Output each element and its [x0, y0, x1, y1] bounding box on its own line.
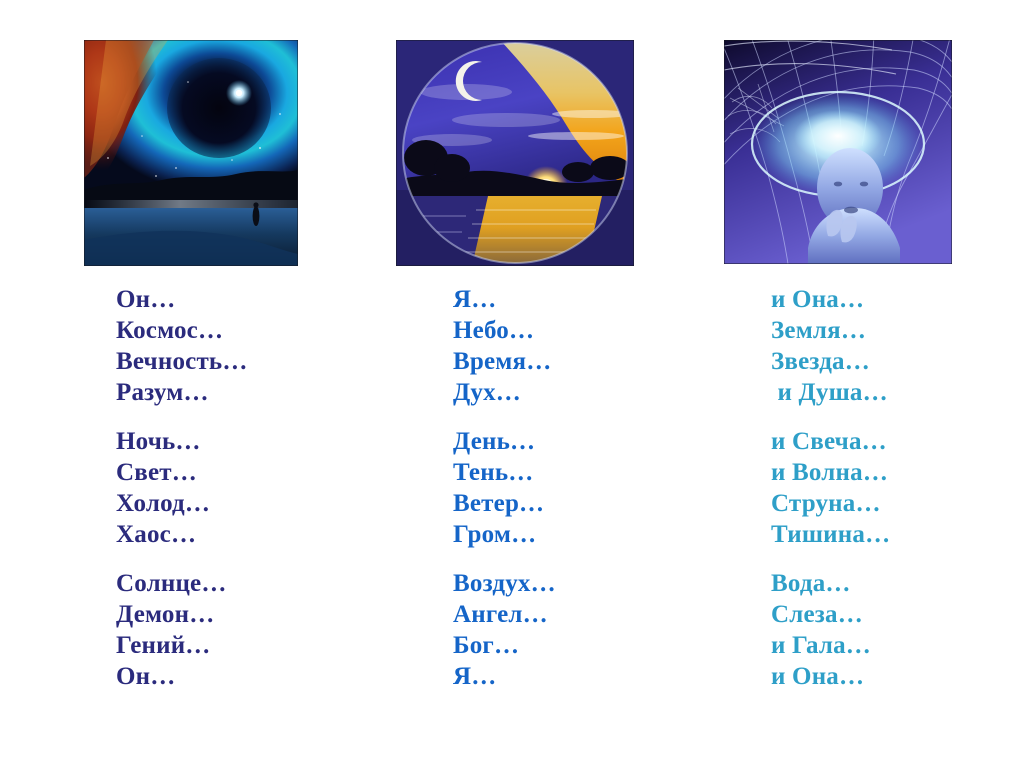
poem-line: Гений… [116, 630, 248, 661]
stanza: Он… Космос… Вечность… Разум… [116, 284, 248, 408]
poem-line: Хаос… [116, 519, 248, 550]
stanza: Я… Небо… Время… Дух… [453, 284, 556, 408]
poem-line: и Она… [771, 284, 890, 315]
poem-line: Звезда… [771, 346, 890, 377]
stanza: Солнце… Демон… Гений… Он… [116, 568, 248, 692]
poem-line: Вода… [771, 568, 890, 599]
poem-line: Время… [453, 346, 556, 377]
poem-line: и Гала… [771, 630, 890, 661]
poem-column-she: и Она… Земля… Звезда… и Душа… и Свеча… и… [771, 284, 890, 710]
poem-line: Свет… [116, 457, 248, 488]
poem-line: Ночь… [116, 426, 248, 457]
stanza: Ночь… Свет… Холод… Хаос… [116, 426, 248, 550]
poem-line: Небо… [453, 315, 556, 346]
stanza: Воздух… Ангел… Бог… Я… [453, 568, 556, 692]
stanza: День… Тень… Ветер… Гром… [453, 426, 556, 550]
poem-line: Ветер… [453, 488, 556, 519]
stanza: и Свеча… и Волна… Струна… Тишина… [771, 426, 890, 550]
image-yin-yang-day-night [396, 40, 634, 266]
poem-columns: Он… Космос… Вечность… Разум… Ночь… Свет…… [0, 284, 1024, 754]
poem-line: Тишина… [771, 519, 890, 550]
poem-line: Я… [453, 284, 556, 315]
poem-line: Ангел… [453, 599, 556, 630]
poem-line: Он… [116, 284, 248, 315]
poem-column-he: Он… Космос… Вечность… Разум… Ночь… Свет…… [116, 284, 248, 710]
stanza: Вода… Слеза… и Гала… и Она… [771, 568, 890, 692]
poem-line: Слеза… [771, 599, 890, 630]
poem-line: Он… [116, 661, 248, 692]
poem-line: и Волна… [771, 457, 890, 488]
poem-line: и Свеча… [771, 426, 890, 457]
poem-line: Гром… [453, 519, 556, 550]
poem-line: и Она… [771, 661, 890, 692]
poem-line: Тень… [453, 457, 556, 488]
poem-line: Вечность… [116, 346, 248, 377]
poem-line: Я… [453, 661, 556, 692]
image-cosmic-eye [84, 40, 298, 266]
poem-line: Воздух… [453, 568, 556, 599]
poem-line: и Душа… [771, 377, 890, 408]
image-aura-figure [724, 40, 952, 264]
poem-line: Струна… [771, 488, 890, 519]
poem-line: День… [453, 426, 556, 457]
poem-line: Дух… [453, 377, 556, 408]
poem-column-i: Я… Небо… Время… Дух… День… Тень… Ветер… … [453, 284, 556, 710]
poem-line: Космос… [116, 315, 248, 346]
stanza: и Она… Земля… Звезда… и Душа… [771, 284, 890, 408]
poem-line: Демон… [116, 599, 248, 630]
cosmic-eye-artwork [84, 40, 298, 266]
yin-yang-artwork [396, 40, 634, 266]
poem-line: Разум… [116, 377, 248, 408]
poem-line: Солнце… [116, 568, 248, 599]
poem-line: Земля… [771, 315, 890, 346]
poem-line: Холод… [116, 488, 248, 519]
poem-line: Бог… [453, 630, 556, 661]
aura-figure-artwork [724, 40, 952, 264]
image-row [0, 0, 1024, 270]
